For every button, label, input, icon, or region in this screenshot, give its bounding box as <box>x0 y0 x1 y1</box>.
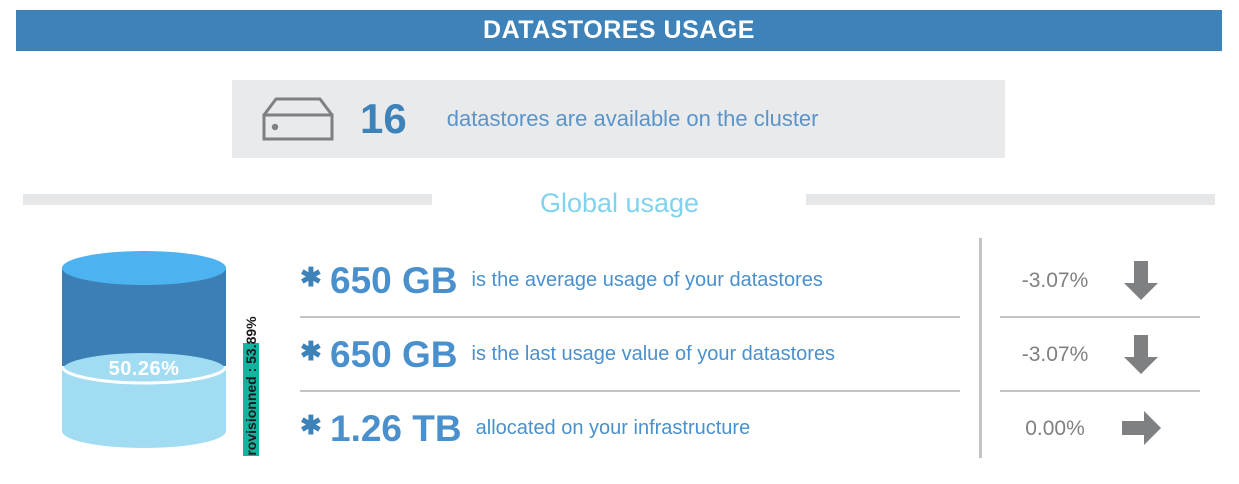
usage-stats-list: ✱ 650 GB is the average usage of your da… <box>300 244 960 460</box>
trend-list: -3.07% -3.07% 0.00% <box>1000 244 1200 460</box>
bullet-icon: ✱ <box>300 264 330 290</box>
trend-percent: -3.07% <box>1000 344 1110 365</box>
provisioned-indicator: rovisionned : 53.89% <box>241 312 261 464</box>
usage-percent-label: 50.26% <box>58 358 230 381</box>
trend-percent: -3.07% <box>1000 270 1110 291</box>
trend-percent: 0.00% <box>1000 418 1110 439</box>
bullet-icon: ✱ <box>300 338 330 364</box>
list-item: -3.07% <box>1000 244 1200 316</box>
datastore-count-label: datastores are available on the cluster <box>447 108 819 130</box>
stat-value: 650 GB <box>330 336 458 373</box>
page-title: DATASTORES USAGE <box>483 18 755 43</box>
stat-description: is the average usage of your datastores <box>472 270 823 290</box>
stat-description: allocated on your infrastructure <box>476 418 751 438</box>
datastore-count-panel: 16 datastores are available on the clust… <box>232 80 1005 158</box>
list-item: ✱ 1.26 TB allocated on your infrastructu… <box>300 390 960 464</box>
arrow-down-icon <box>1118 331 1164 377</box>
arrow-right-icon <box>1118 405 1164 451</box>
datastore-count-value: 16 <box>360 98 407 140</box>
list-item: ✱ 650 GB is the average usage of your da… <box>300 244 960 316</box>
section-title: Global usage <box>0 184 1239 222</box>
stat-value: 650 GB <box>330 262 458 299</box>
stat-description: is the last usage value of your datastor… <box>472 344 836 364</box>
provisioned-label: rovisionned : 53.89% <box>243 310 259 462</box>
bullet-icon: ✱ <box>300 412 330 438</box>
datastore-drive-icon <box>250 91 346 147</box>
stat-value: 1.26 TB <box>330 410 462 447</box>
page-header-bar: DATASTORES USAGE <box>16 10 1222 51</box>
list-item: 0.00% <box>1000 390 1200 464</box>
global-usage-section-band: Global usage <box>0 188 1239 224</box>
list-item: ✱ 650 GB is the last usage value of your… <box>300 316 960 390</box>
list-item: -3.07% <box>1000 316 1200 390</box>
arrow-down-icon <box>1118 257 1164 303</box>
vertical-divider <box>979 238 982 458</box>
usage-cylinder-gauge: 50.26% <box>58 248 230 453</box>
